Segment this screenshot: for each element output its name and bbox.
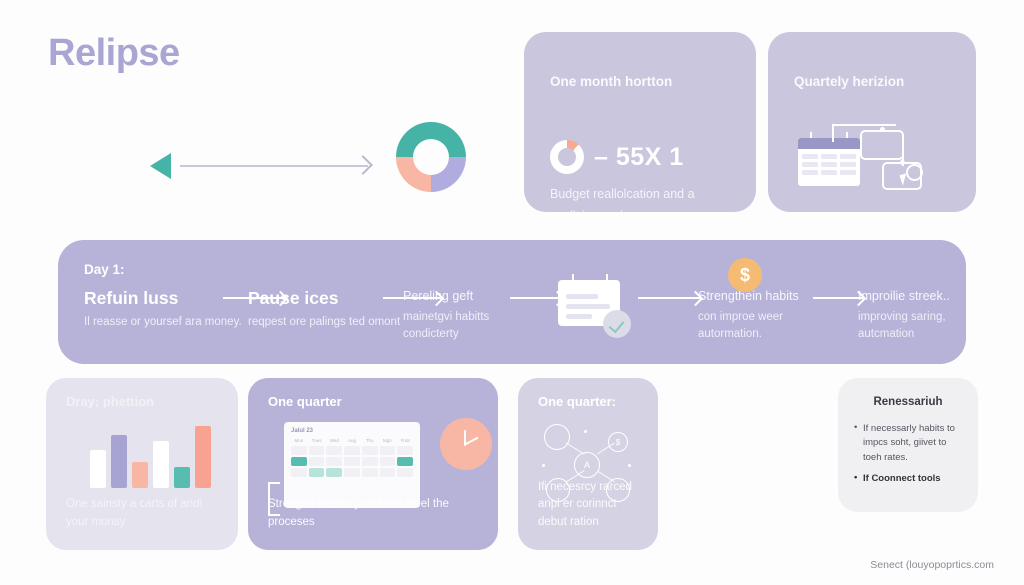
calendar-dow: Friot	[397, 438, 413, 443]
dollar-coin-icon: $	[728, 258, 762, 292]
calendar-day-cell[interactable]	[397, 446, 413, 455]
calendar-dow: Mon	[291, 438, 307, 443]
page-title: Relipse	[48, 32, 180, 75]
card-footer: Ifi necesrcy rarced anpl er corinnct deb…	[538, 479, 644, 532]
step-body: reqpest ore palings ted omont	[248, 314, 403, 332]
calendar-dow: Thu	[362, 438, 378, 443]
network-node	[544, 424, 570, 450]
flow-connector	[832, 124, 896, 126]
card-description: Budget reallolcation and a pavllsion and…	[550, 184, 732, 228]
step-arrow-icon	[510, 297, 562, 299]
calendar-row	[566, 314, 592, 319]
calendar-cells	[798, 149, 860, 180]
card-one-quarter-network[interactable]: One quarter: $ A Ifi necesrcy rarced anp…	[518, 378, 658, 550]
timeline-step-5[interactable]: Improilie streek.. improving saring, aut…	[858, 290, 978, 344]
calendar-day-cell[interactable]	[326, 468, 342, 477]
calendar-day-cell[interactable]	[362, 446, 378, 455]
header-arrow-group	[150, 148, 380, 184]
notes-list-item: If necessarly habits to impcs soht, giiv…	[854, 422, 966, 465]
calendar-day-cell[interactable]	[291, 446, 307, 455]
card-footer: Strengeh habits: jour habit steel the pr…	[268, 496, 484, 532]
calendar-dow: Aug	[344, 438, 360, 443]
bar-2	[111, 435, 127, 488]
flowchart-icon	[860, 130, 904, 160]
card-one-quarter-calendar[interactable]: One quarter Jalul 23 MonTuesWedAugThuMgn…	[248, 378, 498, 550]
net-dot	[584, 430, 587, 433]
card-title: Renessariuh	[838, 396, 978, 408]
flow-node-dot	[880, 127, 885, 132]
calendar-day-cell[interactable]	[326, 446, 342, 455]
poster-canvas: Relipse One month hortton – 55X 1 Budget…	[0, 0, 1024, 585]
net-dot	[542, 464, 545, 467]
clock-icon	[440, 418, 492, 470]
card-quarterly[interactable]: Quartely herizion	[768, 32, 976, 212]
calendar-day-grid	[291, 446, 413, 477]
calendar-day-cell[interactable]	[309, 468, 325, 477]
calendar-dow: Wed	[326, 438, 342, 443]
ring-progress-icon	[550, 140, 584, 174]
bar-3	[132, 462, 148, 488]
calendar-day-cell[interactable]	[344, 457, 360, 466]
network-node-center: A	[574, 452, 600, 478]
notes-list-item: If Coonnect tools	[854, 472, 966, 486]
network-node-dollar: $	[608, 432, 628, 452]
calendar-day-cell[interactable]	[362, 457, 378, 466]
card-bar-chart[interactable]: Dray; phettion One sainsty a carts of an…	[46, 378, 238, 550]
calendar-header-bar	[798, 138, 860, 149]
calendar-dow: Mgn	[380, 438, 396, 443]
step-body: Il reasse or yoursef ara money.	[84, 314, 244, 332]
card-title: Dray; phettion	[66, 394, 154, 409]
globe-icon	[906, 164, 923, 181]
calendar-icon: Jalul 23 MonTuesWedAugThuMgnFriot	[284, 422, 420, 508]
calendar-day-cell[interactable]	[309, 446, 325, 455]
calendar-day-cell[interactable]	[309, 457, 325, 466]
bar-chart-icon	[90, 422, 211, 488]
donut-chart-icon	[396, 122, 466, 192]
calendar-month-label: Jalul 23	[291, 428, 413, 434]
calendar-day-cell[interactable]	[326, 457, 342, 466]
card-one-month[interactable]: One month hortton – 55X 1 Budget reallol…	[524, 32, 756, 212]
card-title: One month hortton	[550, 74, 672, 89]
quarterly-illustration	[794, 120, 954, 200]
card-notes[interactable]: Renessariuh If necessarly habits to impc…	[838, 378, 978, 512]
footer-text: Senect (louyopoprtics.com	[870, 559, 994, 571]
notes-bullet-list: If necessarly habits to impcs soht, giiv…	[854, 422, 966, 493]
flow-node-dot	[900, 160, 905, 165]
calendar-day-cell[interactable]	[362, 468, 378, 477]
step-heading: Pause ices	[248, 290, 403, 308]
flow-connector	[832, 124, 834, 142]
card-footer: One sainsty a carts of andi your monsy	[66, 496, 224, 532]
calendar-day-cell[interactable]	[397, 457, 413, 466]
timeline-step-1[interactable]: Refuin luss Il reasse or yoursef ara mon…	[84, 290, 244, 331]
card-title: One quarter	[268, 394, 342, 409]
calendar-row	[566, 304, 610, 309]
step-body: mainetgvi habitts condicterty	[403, 309, 533, 345]
step-body: con improe weer autormation.	[698, 309, 838, 345]
step-body: improving saring, autcmation	[858, 309, 978, 345]
calendar-dow: Tues	[309, 438, 325, 443]
calendar-day-cell[interactable]	[344, 468, 360, 477]
card-title: One quarter:	[538, 394, 616, 409]
arrow-line	[180, 165, 368, 167]
timeline-band: Day 1: Refuin luss Il reasse or yoursef …	[58, 240, 966, 364]
step-heading: Improilie streek..	[858, 290, 978, 303]
net-dot	[628, 464, 631, 467]
bar-6	[195, 426, 211, 488]
kpi-row: – 55X 1	[550, 140, 684, 174]
long-arrow-right-icon	[353, 155, 373, 175]
step-arrow-icon	[813, 297, 863, 299]
card-title: Quartely herizion	[794, 74, 904, 89]
calendar-day-cell[interactable]	[397, 468, 413, 477]
calendar-row	[566, 294, 598, 299]
bar-4	[153, 441, 169, 488]
step-heading: Refuin luss	[84, 290, 244, 308]
day-label: Day 1:	[84, 262, 125, 277]
calendar-icon	[798, 138, 860, 186]
calendar-day-cell[interactable]	[380, 468, 396, 477]
calendar-day-headers: MonTuesWedAugThuMgnFriot	[291, 438, 413, 443]
calendar-day-cell[interactable]	[344, 446, 360, 455]
step-arrow-icon	[638, 297, 700, 299]
timeline-step-2[interactable]: Pause ices reqpest ore palings ted omont	[248, 290, 403, 331]
calendar-day-cell[interactable]	[380, 446, 396, 455]
check-circle-icon	[603, 310, 631, 338]
calendar-day-cell[interactable]	[291, 457, 307, 466]
triangle-left-icon	[150, 153, 171, 179]
calendar-day-cell[interactable]	[380, 457, 396, 466]
bar-1	[90, 450, 106, 488]
kpi-value: – 55X 1	[594, 143, 684, 172]
bar-5	[174, 467, 190, 488]
calendar-day-cell[interactable]	[291, 468, 307, 477]
